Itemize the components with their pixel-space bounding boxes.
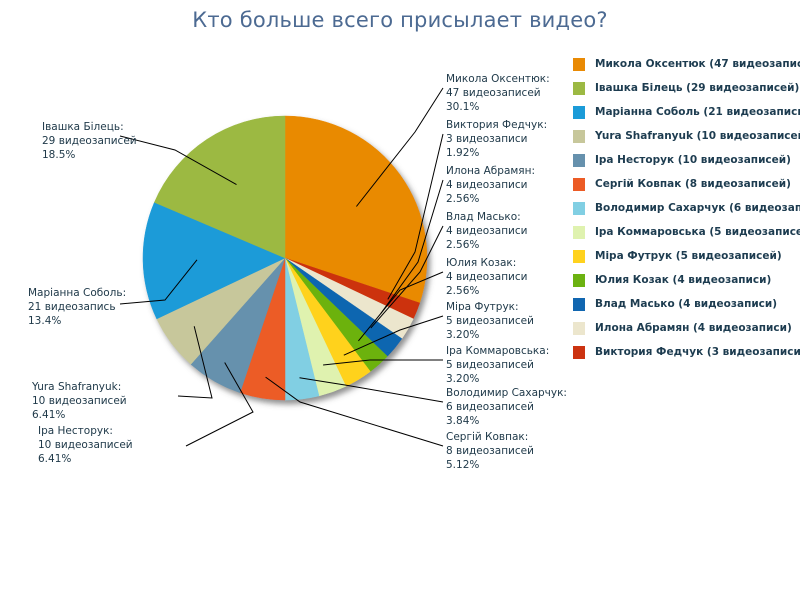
legend-item-label: Іра Несторук (10 видеозаписей) (595, 154, 791, 166)
callout-ilona-abramyan: Илона Абрамян: 4 видеозаписи 2.56% (446, 164, 535, 206)
callout-count: 10 видеозаписей (38, 438, 133, 452)
callout-mira-futruk: Міра Футрук: 5 видеозаписей 3.20% (446, 300, 534, 342)
callout-name: Володимир Сахарчук: (446, 386, 567, 400)
legend-item-label: Іра Коммаровська (5 видеозаписей) (595, 226, 800, 238)
legend-color-swatch (573, 226, 585, 239)
callout-percent: 18.5% (42, 148, 137, 162)
legend-color-swatch (573, 322, 585, 335)
legend-color-swatch (573, 274, 585, 287)
legend-item-label: Сергій Ковпак (8 видеозаписей) (595, 178, 791, 190)
callout-name: Yura Shafranyuk: (32, 380, 127, 394)
legend-color-swatch (573, 250, 585, 263)
callout-name: Влад Масько: (446, 210, 527, 224)
legend-item-label: Володимир Сахарчук (6 видеозаписей) (595, 202, 800, 214)
callout-volodymyr-sakharchuk: Володимир Сахарчук: 6 видеозаписей 3.84% (446, 386, 567, 428)
callout-name: Іра Несторук: (38, 424, 133, 438)
callout-percent: 5.12% (446, 458, 534, 472)
callout-percent: 2.56% (446, 284, 527, 298)
pie-chart-figure: Кто больше всего присылает видео? Микола… (0, 0, 800, 600)
legend-item[interactable]: Влад Масько (4 видеозаписи) (573, 292, 798, 316)
legend-item[interactable]: Yura Shafranyuk (10 видеозаписей) (573, 124, 798, 148)
callout-name: Юлия Козак: (446, 256, 527, 270)
callout-vlad-masko: Влад Масько: 4 видеозаписи 2.56% (446, 210, 527, 252)
legend-item-label: Микола Оксентюк (47 видеозаписей) (595, 58, 800, 70)
callout-count: 3 видеозаписи (446, 132, 547, 146)
callout-percent: 30.1% (446, 100, 550, 114)
legend-item[interactable]: Сергій Ковпак (8 видеозаписей) (573, 172, 798, 196)
callout-percent: 3.84% (446, 414, 567, 428)
callout-count: 29 видеозаписей (42, 134, 137, 148)
legend-item[interactable]: Івашка Білець (29 видеозаписей) (573, 76, 798, 100)
legend-color-swatch (573, 130, 585, 143)
callout-percent: 13.4% (28, 314, 126, 328)
legend-item[interactable]: Маріанна Соболь (21 видеозапись) (573, 100, 798, 124)
callout-count: 5 видеозаписей (446, 314, 534, 328)
callout-count: 21 видеозапись (28, 300, 126, 314)
callout-ira-kommarovska: Іра Коммаровська: 5 видеозаписей 3.20% (446, 344, 549, 386)
legend-item-label: Міра Футрук (5 видеозаписей) (595, 250, 782, 262)
legend-color-swatch (573, 346, 585, 359)
pie-slices-group (143, 116, 427, 400)
callout-name: Виктория Федчук: (446, 118, 547, 132)
callout-name: Маріанна Соболь: (28, 286, 126, 300)
callout-name: Микола Оксентюк: (446, 72, 550, 86)
legend-item[interactable]: Володимир Сахарчук (6 видеозаписей) (573, 196, 798, 220)
legend-item-label: Виктория Федчук (3 видеозаписи) (595, 346, 800, 358)
callout-name: Іра Коммаровська: (446, 344, 549, 358)
callout-yuliya-kozak: Юлия Козак: 4 видеозаписи 2.56% (446, 256, 527, 298)
callout-mykola-oksentyuk: Микола Оксентюк: 47 видеозаписей 30.1% (446, 72, 550, 114)
callout-name: Івашка Білець: (42, 120, 137, 134)
legend-item[interactable]: Іра Коммаровська (5 видеозаписей) (573, 220, 798, 244)
legend-item[interactable]: Виктория Федчук (3 видеозаписи) (573, 340, 798, 364)
chart-legend: Микола Оксентюк (47 видеозаписей)Івашка … (573, 52, 798, 364)
callout-serhiy-kovpak: Сергій Ковпак: 8 видеозаписей 5.12% (446, 430, 534, 472)
callout-count: 4 видеозаписи (446, 270, 527, 284)
callout-count: 6 видеозаписей (446, 400, 567, 414)
callout-count: 8 видеозаписей (446, 444, 534, 458)
callout-percent: 1.92% (446, 146, 547, 160)
legend-item-label: Yura Shafranyuk (10 видеозаписей) (595, 130, 800, 142)
callout-percent: 3.20% (446, 328, 534, 342)
callout-percent: 3.20% (446, 372, 549, 386)
callout-percent: 2.56% (446, 238, 527, 252)
legend-color-swatch (573, 298, 585, 311)
legend-item[interactable]: Міра Футрук (5 видеозаписей) (573, 244, 798, 268)
callout-yura-shafranyuk: Yura Shafranyuk: 10 видеозаписей 6.41% (32, 380, 127, 422)
callout-ira-nestoruk: Іра Несторук: 10 видеозаписей 6.41% (38, 424, 133, 466)
legend-item[interactable]: Іра Несторук (10 видеозаписей) (573, 148, 798, 172)
legend-item-label: Илона Абрамян (4 видеозаписи) (595, 322, 792, 334)
legend-item[interactable]: Микола Оксентюк (47 видеозаписей) (573, 52, 798, 76)
callout-count: 47 видеозаписей (446, 86, 550, 100)
callout-ivashka-bilets: Івашка Білець: 29 видеозаписей 18.5% (42, 120, 137, 162)
callout-count: 4 видеозаписи (446, 224, 527, 238)
callout-viktoriya-fedchuk: Виктория Федчук: 3 видеозаписи 1.92% (446, 118, 547, 160)
legend-item[interactable]: Илона Абрамян (4 видеозаписи) (573, 316, 798, 340)
callout-count: 5 видеозаписей (446, 358, 549, 372)
callout-percent: 6.41% (38, 452, 133, 466)
legend-item-label: Івашка Білець (29 видеозаписей) (595, 82, 799, 94)
callout-count: 4 видеозаписи (446, 178, 535, 192)
callout-name: Илона Абрамян: (446, 164, 535, 178)
legend-item-label: Влад Масько (4 видеозаписи) (595, 298, 777, 310)
legend-color-swatch (573, 58, 585, 71)
callout-count: 10 видеозаписей (32, 394, 127, 408)
callout-name: Сергій Ковпак: (446, 430, 534, 444)
legend-item[interactable]: Юлия Козак (4 видеозаписи) (573, 268, 798, 292)
legend-color-swatch (573, 202, 585, 215)
callout-percent: 6.41% (32, 408, 127, 422)
legend-color-swatch (573, 106, 585, 119)
legend-color-swatch (573, 82, 585, 95)
callout-percent: 2.56% (446, 192, 535, 206)
callout-marianna-sobol: Маріанна Соболь: 21 видеозапись 13.4% (28, 286, 126, 328)
legend-item-label: Юлия Козак (4 видеозаписи) (595, 274, 771, 286)
callout-name: Міра Футрук: (446, 300, 534, 314)
legend-color-swatch (573, 178, 585, 191)
legend-color-swatch (573, 154, 585, 167)
legend-item-label: Маріанна Соболь (21 видеозапись) (595, 106, 800, 118)
